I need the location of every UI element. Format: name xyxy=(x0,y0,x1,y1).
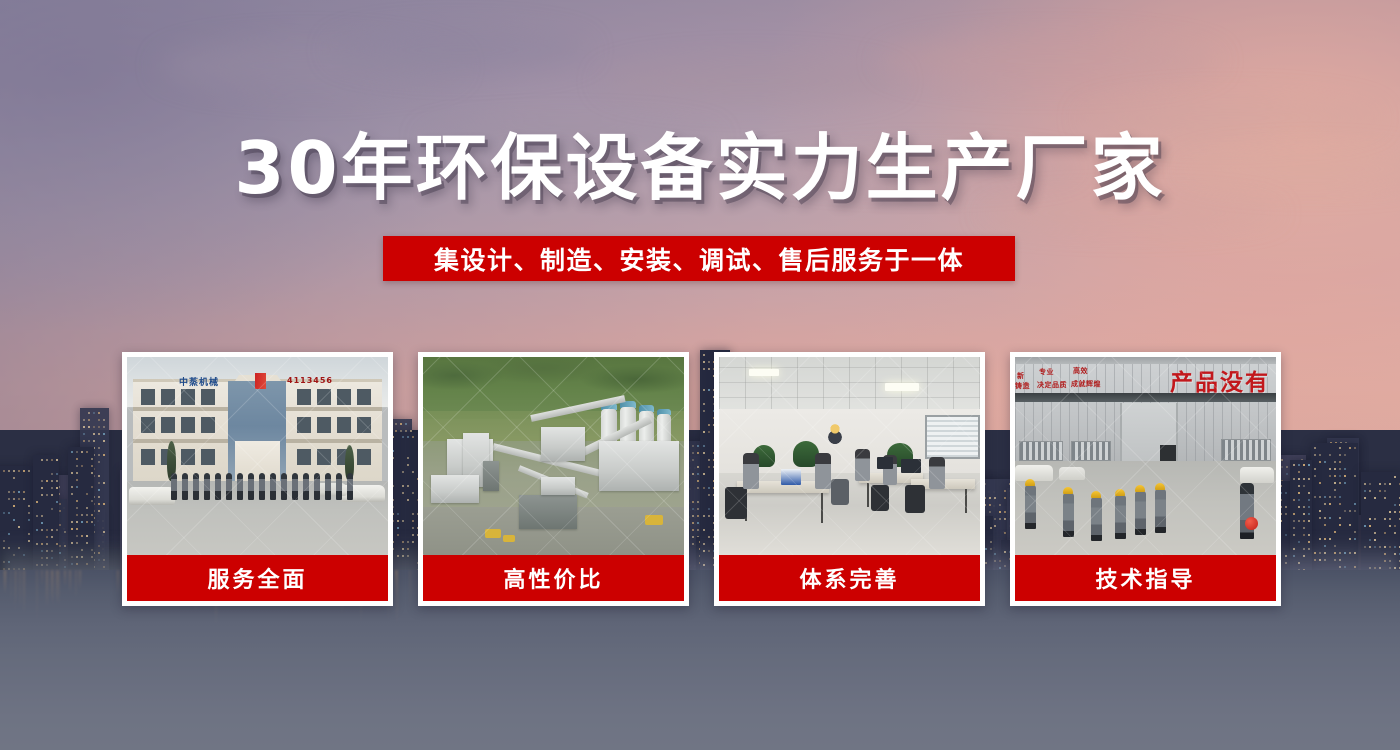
building-window xyxy=(88,426,90,428)
building-window xyxy=(98,426,100,428)
building-window xyxy=(91,514,93,516)
building-window xyxy=(28,519,30,521)
building-window xyxy=(86,535,88,537)
building-window xyxy=(103,503,105,505)
building-window xyxy=(56,501,58,503)
building-window xyxy=(76,521,78,523)
building-window xyxy=(103,426,105,428)
building-window xyxy=(46,529,48,531)
building-window xyxy=(88,440,90,442)
building-window xyxy=(76,528,78,530)
building-window xyxy=(51,480,53,482)
building-window xyxy=(51,494,53,496)
building-window xyxy=(23,470,25,472)
building-window xyxy=(8,498,10,500)
building-window xyxy=(81,514,83,516)
building-window xyxy=(71,521,73,523)
building-window xyxy=(98,510,100,512)
building-window xyxy=(56,529,58,531)
building-window xyxy=(91,486,93,488)
building-window xyxy=(91,472,93,474)
building-window xyxy=(76,465,78,467)
building-window xyxy=(28,505,30,507)
building-window xyxy=(103,440,105,442)
building-window xyxy=(13,498,15,500)
building-window xyxy=(98,447,100,449)
building-window xyxy=(98,454,100,456)
building-window xyxy=(3,512,5,514)
building-window xyxy=(46,480,48,482)
building-window xyxy=(86,493,88,495)
building-window xyxy=(76,514,78,516)
building-window xyxy=(56,459,58,461)
building-window xyxy=(18,526,20,528)
building-window xyxy=(8,470,10,472)
building-window xyxy=(83,433,85,435)
building-window xyxy=(76,486,78,488)
building-window xyxy=(18,491,20,493)
building-window xyxy=(93,412,95,414)
building-window xyxy=(51,536,53,538)
building-window xyxy=(98,496,100,498)
building-window xyxy=(8,491,10,493)
building-window xyxy=(51,529,53,531)
building-window xyxy=(76,451,78,453)
building-window xyxy=(13,505,15,507)
building-window xyxy=(41,515,43,517)
building-window xyxy=(56,480,58,482)
building-window xyxy=(46,494,48,496)
building-window xyxy=(36,529,38,531)
building-window xyxy=(51,487,53,489)
building-window xyxy=(76,535,78,537)
building-window xyxy=(41,529,43,531)
building-window xyxy=(13,519,15,521)
building-window xyxy=(86,514,88,516)
building-window xyxy=(103,482,105,484)
building-window xyxy=(41,459,43,461)
building-window xyxy=(86,521,88,523)
building-window xyxy=(28,512,30,514)
building-window xyxy=(91,458,93,460)
building-window xyxy=(1281,459,1283,461)
building-window xyxy=(28,533,30,535)
building-window xyxy=(23,498,25,500)
building-window xyxy=(13,477,15,479)
building-window xyxy=(3,470,5,472)
building-window xyxy=(103,419,105,421)
building-window xyxy=(98,433,100,435)
building-window xyxy=(98,482,100,484)
building-window xyxy=(56,487,58,489)
building-window xyxy=(71,472,73,474)
building-window xyxy=(103,454,105,456)
building-window xyxy=(41,480,43,482)
building-window xyxy=(18,498,20,500)
building-window xyxy=(91,521,93,523)
building-window xyxy=(71,451,73,453)
building-window xyxy=(98,419,100,421)
building-window xyxy=(76,500,78,502)
building-window xyxy=(36,515,38,517)
building-window xyxy=(46,536,48,538)
building-window xyxy=(23,491,25,493)
building-window xyxy=(8,533,10,535)
building-window xyxy=(56,473,58,475)
building-window xyxy=(1281,466,1283,468)
building-window xyxy=(81,535,83,537)
building-window xyxy=(98,503,100,505)
hero-banner: 30年环保设备实力生产厂家 集设计、制造、安装、调试、售后服务于一体 中蒸机械 … xyxy=(0,0,1400,750)
building-window xyxy=(81,521,83,523)
building-window xyxy=(59,503,61,505)
building-window xyxy=(93,433,95,435)
building-window xyxy=(1286,466,1288,468)
building-window xyxy=(83,426,85,428)
building-window xyxy=(71,486,73,488)
building-window xyxy=(64,531,66,533)
building-window xyxy=(86,507,88,509)
building-window xyxy=(83,419,85,421)
building-window xyxy=(28,470,30,472)
building-window xyxy=(103,531,105,533)
building-window xyxy=(81,465,83,467)
building-window xyxy=(76,472,78,474)
building-window xyxy=(13,470,15,472)
building-window xyxy=(86,451,88,453)
building-window xyxy=(1286,473,1288,475)
building-window xyxy=(51,508,53,510)
building-window xyxy=(51,459,53,461)
building-window xyxy=(93,440,95,442)
building-window xyxy=(98,412,100,414)
building-window xyxy=(103,433,105,435)
building-window xyxy=(88,419,90,421)
building-window xyxy=(88,412,90,414)
building-window xyxy=(36,501,38,503)
building-window xyxy=(71,528,73,530)
building-window xyxy=(59,524,61,526)
building-window xyxy=(51,473,53,475)
building-window xyxy=(13,491,15,493)
building-window xyxy=(41,494,43,496)
building-window xyxy=(18,470,20,472)
building-window xyxy=(76,507,78,509)
building-window xyxy=(76,458,78,460)
building-window xyxy=(83,440,85,442)
building-window xyxy=(91,465,93,467)
building-window xyxy=(98,475,100,477)
building-window xyxy=(59,510,61,512)
building-window xyxy=(41,487,43,489)
building-window xyxy=(71,493,73,495)
building-window xyxy=(46,459,48,461)
building-window xyxy=(8,512,10,514)
building-window xyxy=(98,461,100,463)
building-window xyxy=(76,479,78,481)
building-window xyxy=(41,522,43,524)
building-window xyxy=(98,489,100,491)
building-window xyxy=(91,500,93,502)
building-window xyxy=(81,451,83,453)
building-window xyxy=(93,426,95,428)
